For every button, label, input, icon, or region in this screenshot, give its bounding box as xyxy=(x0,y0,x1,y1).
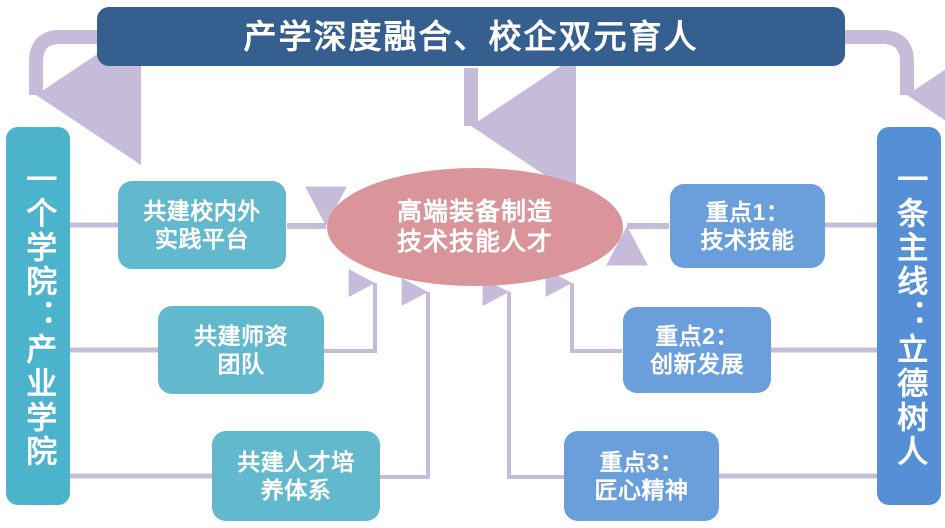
title-text: 产学深度融合、校企双元育人 xyxy=(244,20,699,53)
right-node-1-label: 重点1： 技术技能 xyxy=(701,198,795,254)
right-node-1[interactable]: 重点1： 技术技能 xyxy=(670,184,825,268)
right-node-2[interactable]: 重点2： 创新发展 xyxy=(623,307,771,393)
connector-title-to-right-pillar xyxy=(845,37,907,95)
connector-left-node-3-to-center xyxy=(379,292,428,477)
right-pillar-label: 一条主线：立德树人 xyxy=(893,163,926,469)
connector-left-node-2-to-center xyxy=(324,283,375,351)
right-pillar: 一条主线：立德树人 xyxy=(877,127,941,505)
left-node-2-label: 共建师资 团队 xyxy=(194,322,288,378)
left-node-1[interactable]: 共建校内外 实践平台 xyxy=(118,181,286,269)
right-node-2-label: 重点2： 创新发展 xyxy=(650,322,744,378)
right-node-3[interactable]: 重点3： 匠心精神 xyxy=(564,431,719,521)
connector-right-node-3-to-center xyxy=(509,292,565,477)
left-node-2[interactable]: 共建师资 团队 xyxy=(158,306,324,394)
left-pillar-label: 一个学院：产业学院 xyxy=(22,163,55,469)
center-goal-ellipse: 高端装备制造 技术技能人才 xyxy=(327,168,623,286)
center-goal-label: 高端装备制造 技术技能人才 xyxy=(397,197,553,258)
left-node-1-label: 共建校内外 实践平台 xyxy=(143,197,261,253)
connector-title-to-left-pillar xyxy=(36,37,97,95)
left-pillar: 一个学院：产业学院 xyxy=(6,127,70,505)
left-node-3[interactable]: 共建人才培 养体系 xyxy=(212,431,380,521)
connector-right-node-2-to-center xyxy=(572,283,622,351)
right-node-3-label: 重点3： 匠心精神 xyxy=(595,448,689,504)
title-banner: 产学深度融合、校企双元育人 xyxy=(97,7,845,66)
diagram-canvas: 产学深度融合、校企双元育人 一个学院：产业学院 一条主线：立德树人 高端装备制造… xyxy=(0,0,945,528)
left-node-3-label: 共建人才培 养体系 xyxy=(237,448,355,504)
